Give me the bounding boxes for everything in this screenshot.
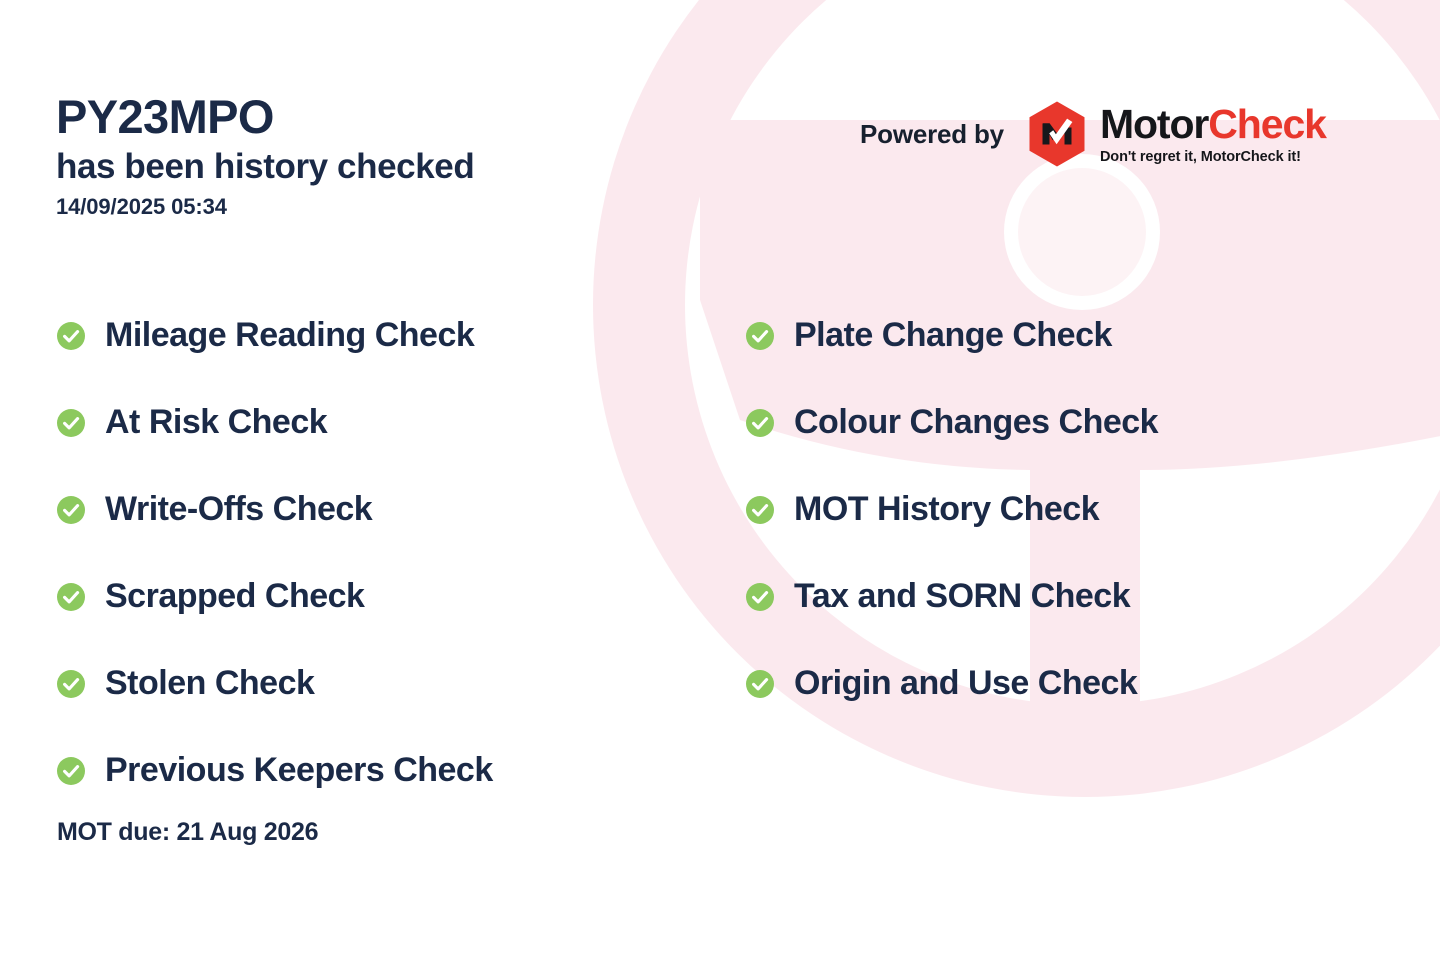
footer-block: MOT due: 21 Aug 2026 (57, 818, 318, 847)
green-check-circle-icon (745, 321, 775, 351)
check-label: At Risk Check (105, 403, 327, 442)
check-item: Stolen Check (56, 640, 696, 727)
green-check-circle-icon (56, 582, 86, 612)
check-label: Origin and Use Check (794, 664, 1137, 703)
check-label: Scrapped Check (105, 577, 364, 616)
checks-column-left: Mileage Reading Check At Risk Check Writ… (56, 292, 696, 814)
check-item: Tax and SORN Check (745, 553, 1405, 640)
check-item: Plate Change Check (745, 292, 1405, 379)
wordmark-motor: Motor (1100, 101, 1208, 147)
check-label: Write-Offs Check (105, 490, 372, 529)
check-item: Write-Offs Check (56, 466, 696, 553)
powered-by-label: Powered by (860, 119, 1004, 150)
green-check-circle-icon (745, 495, 775, 525)
motorcheck-hexagon-logo (1026, 100, 1088, 168)
green-check-circle-icon (56, 495, 86, 525)
checks-column-right: Plate Change Check Colour Changes Check … (745, 292, 1405, 727)
check-label: Mileage Reading Check (105, 316, 474, 355)
green-check-circle-icon (745, 669, 775, 699)
check-item: At Risk Check (56, 379, 696, 466)
wordmark-check: Check (1208, 101, 1326, 147)
header-block: PY23MPO has been history checked 14/09/2… (56, 92, 474, 220)
check-item: Scrapped Check (56, 553, 696, 640)
check-item: Previous Keepers Check (56, 727, 696, 814)
check-timestamp: 14/09/2025 05:34 (56, 194, 474, 220)
green-check-circle-icon (56, 321, 86, 351)
check-item: Colour Changes Check (745, 379, 1405, 466)
headline-text: has been history checked (56, 146, 474, 187)
powered-by-brand: Powered by MotorCheck Don't regret it, M… (860, 100, 1326, 168)
check-label: Stolen Check (105, 664, 314, 703)
check-item: Origin and Use Check (745, 640, 1405, 727)
green-check-circle-icon (56, 408, 86, 438)
green-check-circle-icon (56, 669, 86, 699)
green-check-circle-icon (745, 582, 775, 612)
green-check-circle-icon (745, 408, 775, 438)
check-label: Tax and SORN Check (794, 577, 1130, 616)
check-label: MOT History Check (794, 490, 1099, 529)
check-label: Plate Change Check (794, 316, 1112, 355)
vehicle-registration: PY23MPO (56, 92, 474, 142)
check-label: Previous Keepers Check (105, 751, 493, 790)
motorcheck-logo[interactable]: MotorCheck Don't regret it, MotorCheck i… (1026, 100, 1326, 168)
motorcheck-wordmark: MotorCheck (1100, 104, 1326, 145)
check-item: Mileage Reading Check (56, 292, 696, 379)
mot-due-text: MOT due: 21 Aug 2026 (57, 818, 318, 847)
green-check-circle-icon (56, 756, 86, 786)
history-check-summary-card: PY23MPO has been history checked 14/09/2… (0, 0, 1440, 960)
brand-tagline: Don't regret it, MotorCheck it! (1100, 150, 1326, 165)
check-item: MOT History Check (745, 466, 1405, 553)
check-label: Colour Changes Check (794, 403, 1158, 442)
